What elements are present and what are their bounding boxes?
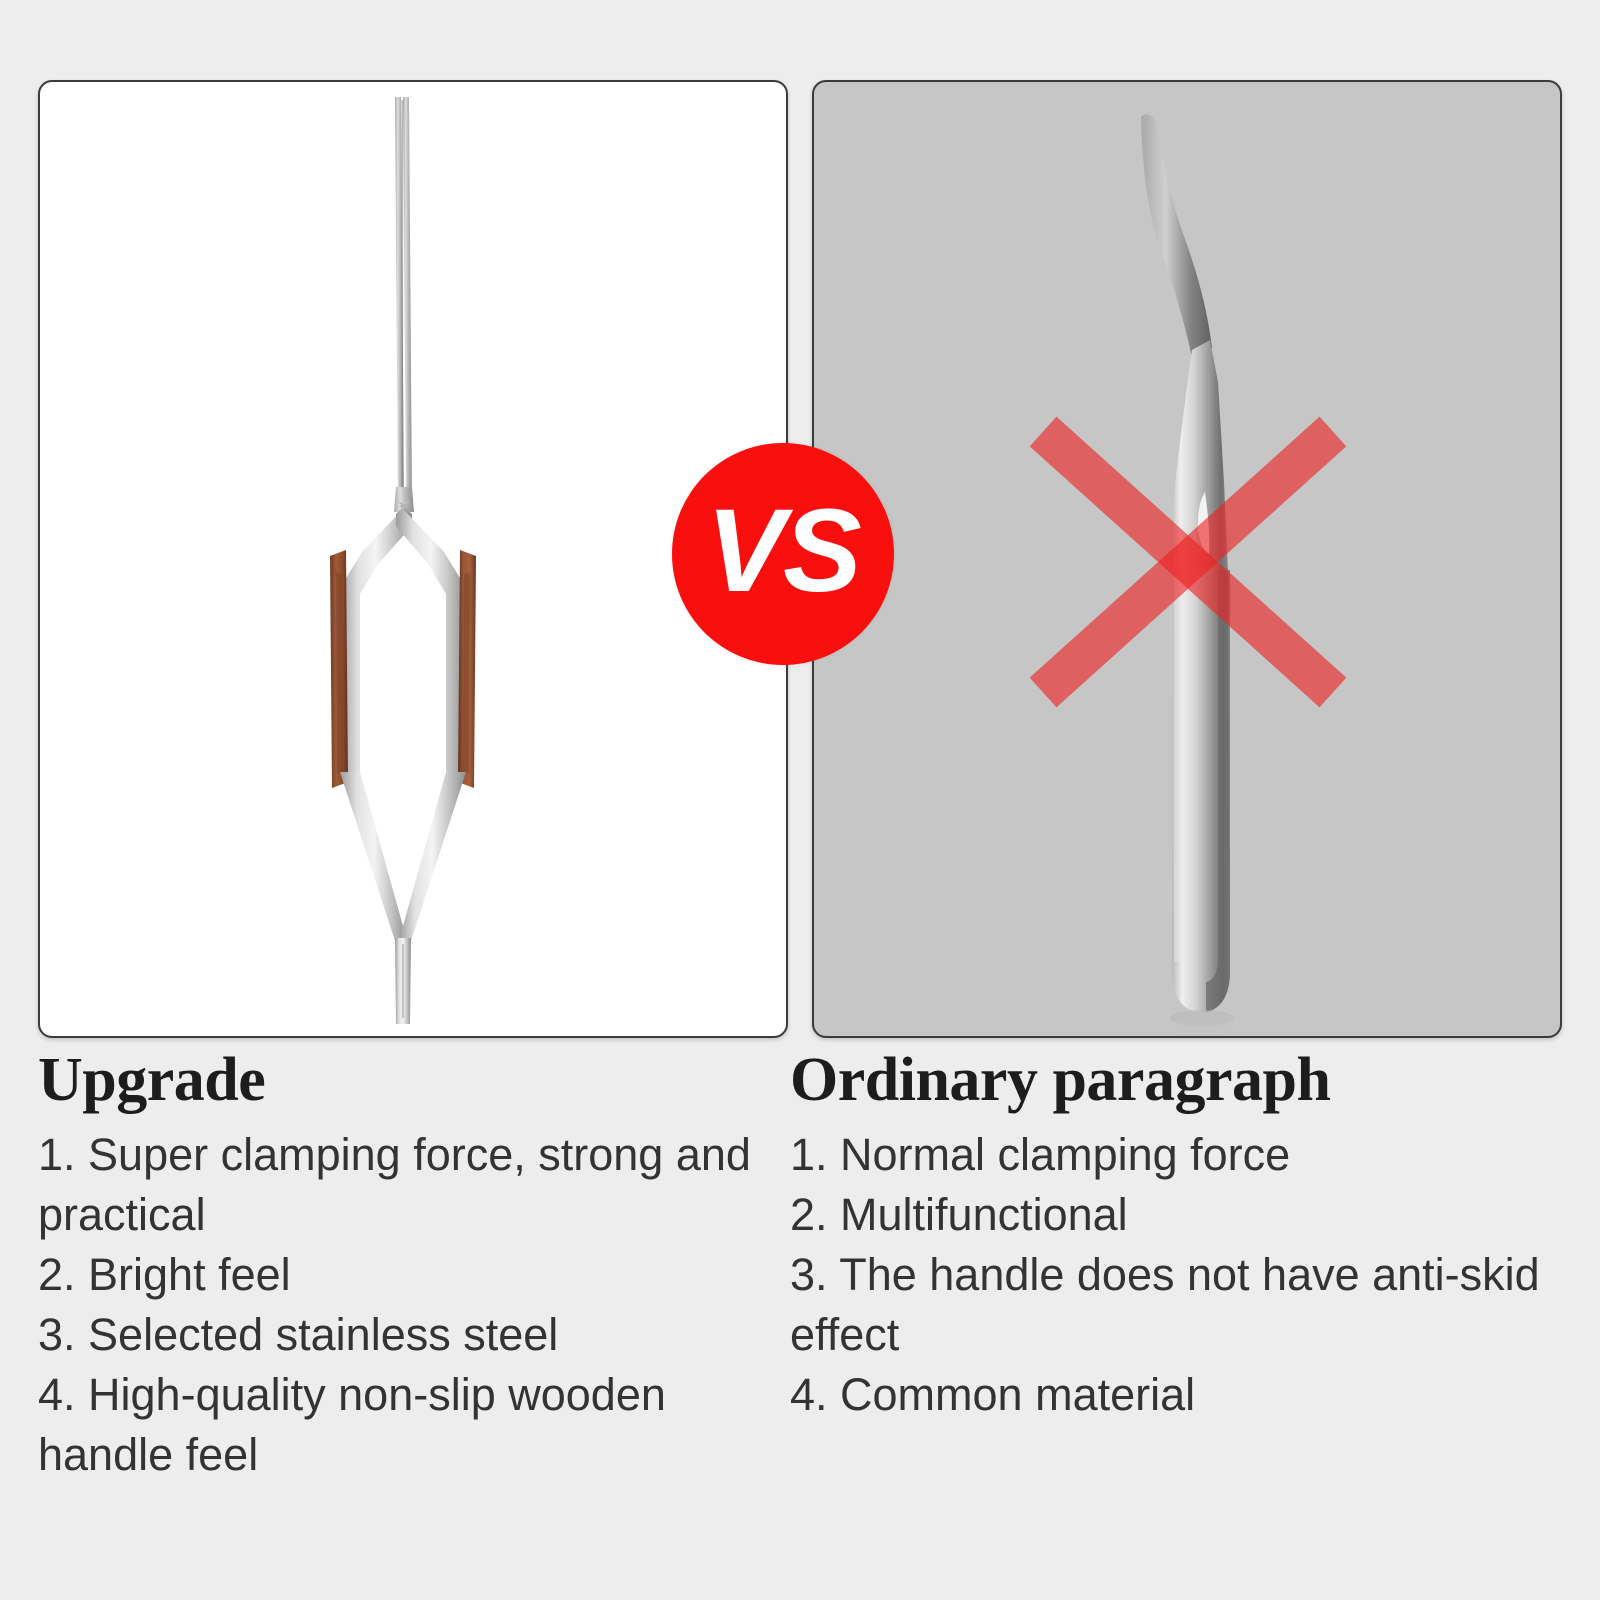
- list-item: 2. Bright feel: [38, 1245, 758, 1305]
- list-item: 3. Selected stainless steel: [38, 1305, 758, 1365]
- upgrade-feature-list: 1. Super clamping force, strong and prac…: [38, 1125, 758, 1484]
- comparison-infographic: VS Upgrade 1. Super clamping force, stro…: [0, 0, 1600, 1600]
- ordinary-heading: Ordinary paragraph: [790, 1046, 1580, 1115]
- list-item: 4. Common material: [790, 1365, 1580, 1425]
- ordinary-product-panel: [812, 80, 1562, 1038]
- vs-badge: VS: [672, 443, 894, 665]
- list-item: 1. Normal clamping force: [790, 1125, 1580, 1185]
- list-item: 3. The handle does not have anti-skid ef…: [790, 1245, 1580, 1365]
- ordinary-feature-list: 1. Normal clamping force 2. Multifunctio…: [790, 1125, 1580, 1424]
- ordinary-text-column: Ordinary paragraph 1. Normal clamping fo…: [790, 1046, 1580, 1425]
- vs-badge-label: VS: [706, 492, 859, 610]
- comparison-text-columns: Upgrade 1. Super clamping force, strong …: [0, 1046, 1600, 1600]
- list-item: 4. High-quality non-slip wooden handle f…: [38, 1365, 758, 1485]
- upgrade-heading: Upgrade: [38, 1046, 758, 1115]
- list-item: 2. Multifunctional: [790, 1185, 1580, 1245]
- upgrade-text-column: Upgrade 1. Super clamping force, strong …: [38, 1046, 758, 1485]
- curved-tip-tweezers-icon: [814, 82, 1562, 1038]
- list-item: 1. Super clamping force, strong and prac…: [38, 1125, 758, 1245]
